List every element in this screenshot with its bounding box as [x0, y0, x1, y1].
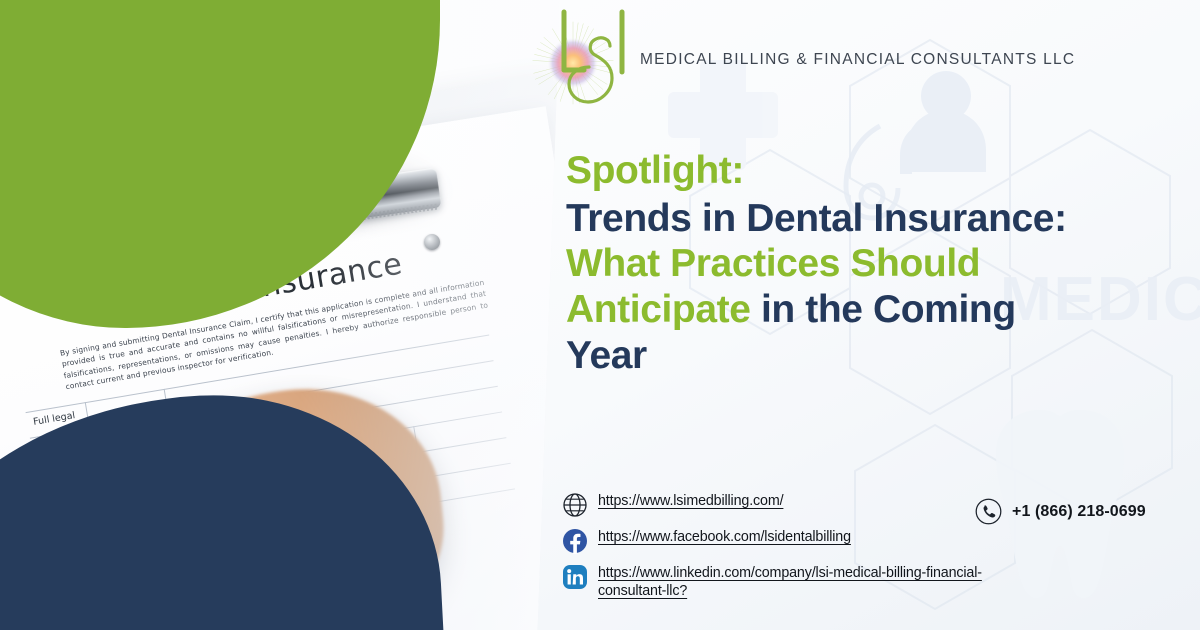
brand-logo: MEDICAL BILLING & FINANCIAL CONSULTANTS … [528, 6, 1048, 114]
headline-line-3-navy: in the Coming [751, 288, 1016, 331]
contact-row-facebook[interactable]: https://www.facebook.com/lsidentalbillin… [562, 528, 982, 554]
globe-icon [562, 492, 588, 518]
headline-line-2: What Practices Should [566, 241, 1186, 287]
contact-row-website[interactable]: https://www.lsimedbilling.com/ [562, 492, 982, 518]
contact-list: https://www.lsimedbilling.com/ https://w… [562, 492, 982, 600]
website-link[interactable]: https://www.lsimedbilling.com/ [598, 492, 783, 510]
logo-mark [528, 6, 636, 114]
page-title: Spotlight: Trends in Dental Insurance: W… [566, 148, 1186, 378]
headline-kicker: Spotlight: [566, 148, 1186, 194]
contact-row-linkedin[interactable]: https://www.linkedin.com/company/lsi-med… [562, 564, 982, 600]
headline-line-3: Anticipate in the Coming [566, 287, 1186, 333]
poster-canvas: MEDICINE Dental Insurance By signing and… [0, 0, 1200, 630]
brand-tagline: MEDICAL BILLING & FINANCIAL CONSULTANTS … [640, 51, 1075, 69]
facebook-icon [562, 528, 588, 554]
phone-number[interactable]: +1 (866) 218-0699 [1012, 503, 1146, 521]
headline-line-1: Trends in Dental Insurance: [566, 196, 1186, 242]
headline-line-4: Year [566, 333, 1186, 379]
linkedin-link[interactable]: https://www.linkedin.com/company/lsi-med… [598, 564, 982, 600]
phone-icon [975, 498, 1002, 525]
facebook-link[interactable]: https://www.facebook.com/lsidentalbillin… [598, 528, 851, 546]
linkedin-icon [562, 564, 588, 590]
logo-lsi-letters [554, 6, 636, 114]
headline-line-3-green: Anticipate [566, 288, 751, 331]
phone-block[interactable]: +1 (866) 218-0699 [975, 498, 1146, 525]
